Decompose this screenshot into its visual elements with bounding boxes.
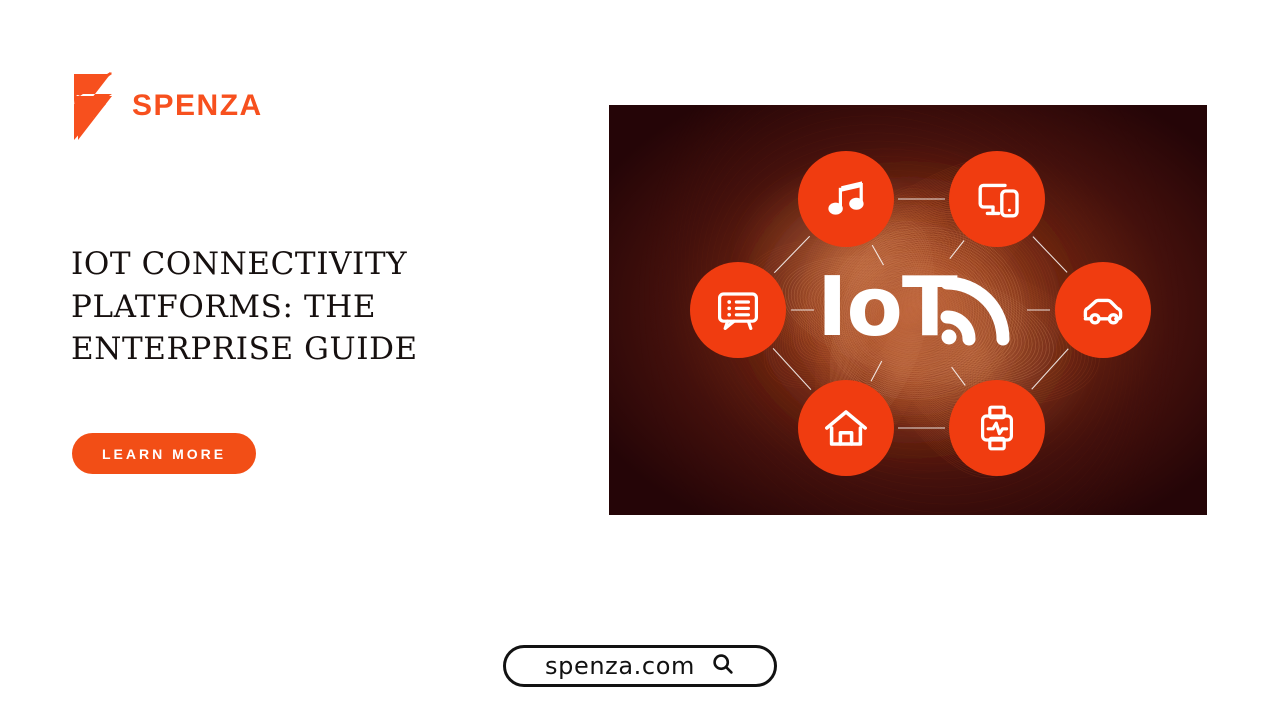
svg-text:IoT: IoT (817, 260, 958, 355)
brand-wordmark: SPENZA (132, 91, 263, 121)
iot-node-music (798, 151, 894, 247)
iot-node-watch (949, 380, 1045, 476)
page-title: IoT Connectivity Platforms: The Enterpri… (71, 243, 501, 371)
footer-url-pill[interactable]: spenza.com (503, 645, 777, 687)
iot-node-car (1055, 262, 1151, 358)
iot-node-chat (690, 262, 786, 358)
footer-url-text: spenza.com (545, 654, 695, 678)
brand-lockup[interactable]: SPENZA (72, 70, 263, 142)
iot-node-devices (949, 151, 1045, 247)
spenza-chevron-s-logo-icon (72, 70, 118, 142)
iot-node-home (798, 380, 894, 476)
learn-more-button[interactable]: LEARN MORE (72, 433, 256, 474)
search-icon[interactable] (711, 652, 735, 681)
iot-ecosystem-illustration: IoT (609, 105, 1207, 515)
